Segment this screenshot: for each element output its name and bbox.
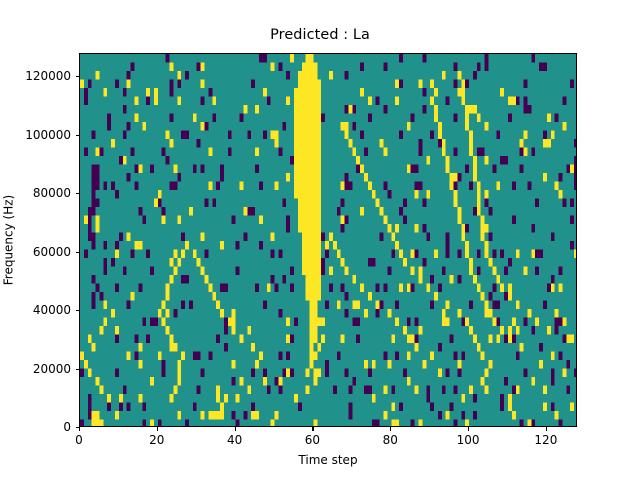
y-tick-label: 60000 bbox=[33, 245, 71, 259]
x-tick-label: 80 bbox=[383, 433, 398, 447]
y-axis-label: Frequency (Hz) bbox=[0, 53, 16, 427]
x-tick-mark bbox=[312, 427, 313, 431]
x-tick-label: 40 bbox=[227, 433, 242, 447]
y-tick-mark bbox=[76, 135, 80, 136]
y-tick-label: 40000 bbox=[33, 303, 71, 317]
x-tick-mark bbox=[546, 427, 547, 431]
x-tick-mark bbox=[79, 427, 80, 431]
y-tick-mark bbox=[76, 310, 80, 311]
heatmap-axes bbox=[79, 53, 577, 427]
y-tick-label: 100000 bbox=[25, 128, 71, 142]
y-tick-label: 20000 bbox=[33, 362, 71, 376]
x-axis-label: Time step bbox=[79, 453, 577, 467]
x-tick-label: 0 bbox=[75, 433, 83, 447]
y-tick-mark bbox=[76, 252, 80, 253]
x-tick-mark bbox=[235, 427, 236, 431]
y-tick-label: 80000 bbox=[33, 186, 71, 200]
y-tick-mark bbox=[76, 427, 80, 428]
page-title: Predicted : La bbox=[0, 27, 640, 43]
y-tick-label: 0 bbox=[63, 420, 71, 434]
matplotlib-figure: Predicted : La 020406080100120 020000400… bbox=[0, 0, 640, 480]
x-tick-label: 120 bbox=[534, 433, 557, 447]
spectrogram-heatmap bbox=[80, 54, 577, 427]
y-tick-mark bbox=[76, 76, 80, 77]
x-tick-label: 60 bbox=[305, 433, 320, 447]
x-tick-label: 100 bbox=[457, 433, 480, 447]
x-tick-mark bbox=[468, 427, 469, 431]
x-tick-mark bbox=[157, 427, 158, 431]
y-tick-mark bbox=[76, 193, 80, 194]
y-tick-label: 120000 bbox=[25, 69, 71, 83]
x-tick-label: 20 bbox=[149, 433, 164, 447]
x-tick-mark bbox=[390, 427, 391, 431]
y-tick-mark bbox=[76, 369, 80, 370]
y-axis-label-text: Frequency (Hz) bbox=[1, 195, 15, 286]
